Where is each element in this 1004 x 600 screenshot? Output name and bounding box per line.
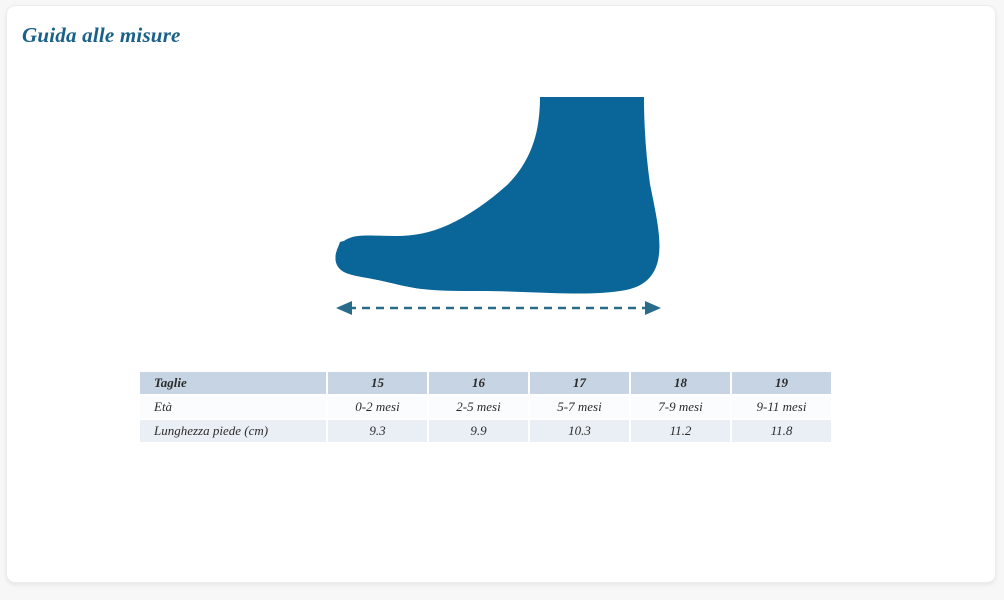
cell-length-17: 10.3 bbox=[530, 420, 629, 442]
cell-age-16: 2-5 mesi bbox=[429, 396, 528, 418]
cell-age-18: 7-9 mesi bbox=[631, 396, 730, 418]
size-table: Taglie 15 16 17 18 19 Età 0-2 mesi 2-5 m… bbox=[138, 370, 833, 444]
table-header-taglie: Taglie bbox=[140, 372, 326, 394]
cell-age-15: 0-2 mesi bbox=[328, 396, 427, 418]
foot-silhouette-shape bbox=[335, 97, 659, 294]
foot-illustration bbox=[326, 86, 671, 326]
cell-age-17: 5-7 mesi bbox=[530, 396, 629, 418]
cell-length-15: 9.3 bbox=[328, 420, 427, 442]
cell-length-16: 9.9 bbox=[429, 420, 528, 442]
table-header-size-16: 16 bbox=[429, 372, 528, 394]
table-header-row: Taglie 15 16 17 18 19 bbox=[140, 372, 831, 394]
cell-length-18: 11.2 bbox=[631, 420, 730, 442]
row-label-age: Età bbox=[140, 396, 326, 418]
table-header-size-18: 18 bbox=[631, 372, 730, 394]
row-label-foot-length: Lunghezza piede (cm) bbox=[140, 420, 326, 442]
table-header-size-15: 15 bbox=[328, 372, 427, 394]
table-row-foot-length: Lunghezza piede (cm) 9.3 9.9 10.3 11.2 1… bbox=[140, 420, 831, 442]
table-header-size-17: 17 bbox=[530, 372, 629, 394]
table-row-age: Età 0-2 mesi 2-5 mesi 5-7 mesi 7-9 mesi … bbox=[140, 396, 831, 418]
size-guide-card: Guida alle misure Taglie bbox=[6, 5, 996, 583]
foot-length-arrow bbox=[336, 301, 661, 315]
page-title: Guida alle misure bbox=[22, 23, 181, 48]
cell-age-19: 9-11 mesi bbox=[732, 396, 831, 418]
table-header-size-19: 19 bbox=[732, 372, 831, 394]
cell-length-19: 11.8 bbox=[732, 420, 831, 442]
